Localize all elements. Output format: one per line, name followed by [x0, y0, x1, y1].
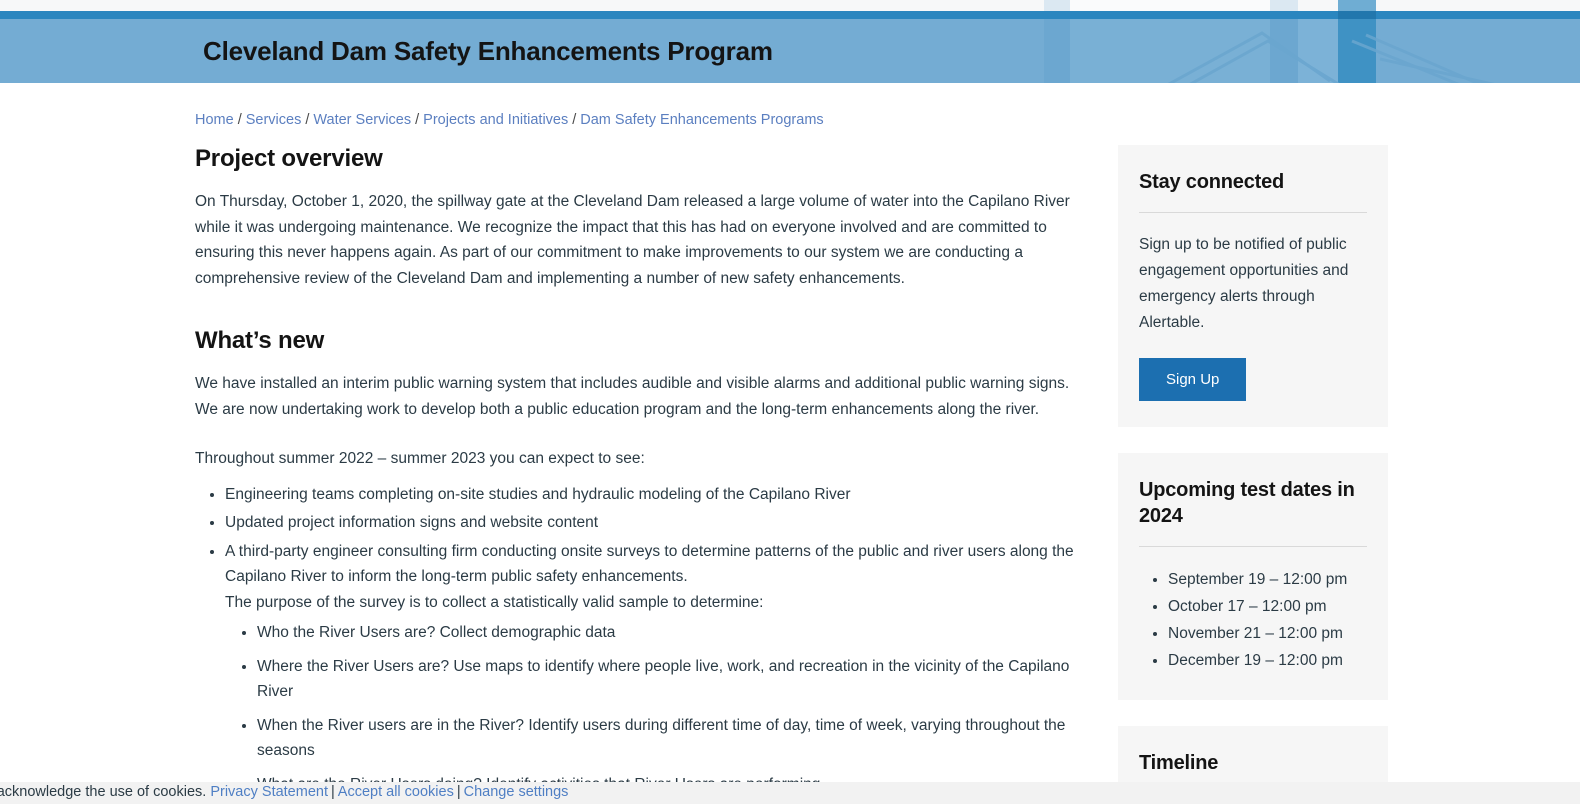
top-strip [0, 0, 1580, 11]
timeline-heading: Timeline [1139, 750, 1367, 776]
top-strip-shape [1044, 0, 1070, 11]
list-item-text: When the River users are in the River? I… [257, 717, 1065, 760]
expect-intro-paragraph: Throughout summer 2022 – summer 2023 you… [195, 446, 1075, 472]
list-item-text: Updated project information signs and we… [225, 514, 598, 531]
list-item: Where the River Users are? Use maps to i… [257, 654, 1075, 705]
breadcrumb-item-home[interactable]: Home [195, 112, 234, 128]
breadcrumb-separator: / [572, 112, 576, 128]
sidebar: Stay connected Sign up to be notified of… [1118, 145, 1388, 804]
breadcrumb-separator: / [305, 112, 309, 128]
accept-all-cookies-link[interactable]: Accept all cookies [338, 784, 454, 800]
test-dates-list: September 19 – 12:00 pm October 17 – 12:… [1139, 566, 1367, 674]
cookie-message: e our website, you acknowledge the use o… [0, 784, 206, 800]
list-item-text: Where the River Users are? Use maps to i… [257, 658, 1069, 701]
list-item: September 19 – 12:00 pm [1168, 566, 1367, 593]
list-item-text: A third-party engineer consulting firm c… [225, 543, 1074, 586]
breadcrumb: Home/Services/Water Services/Projects an… [195, 112, 824, 128]
privacy-statement-link[interactable]: Privacy Statement [210, 784, 328, 800]
change-settings-link[interactable]: Change settings [464, 784, 569, 800]
list-item: October 17 – 12:00 pm [1168, 593, 1367, 620]
breadcrumb-separator: / [238, 112, 242, 128]
test-dates-heading: Upcoming test dates in 2024 [1139, 477, 1367, 529]
top-strip-shape [1270, 0, 1298, 11]
project-overview-paragraph: On Thursday, October 1, 2020, the spillw… [195, 189, 1075, 291]
list-item: Who the River Users are? Collect demogra… [257, 620, 1075, 646]
breadcrumb-separator: / [415, 112, 419, 128]
breadcrumb-item-dam-safety-enhancements-programs[interactable]: Dam Safety Enhancements Programs [580, 112, 823, 128]
top-strip-shape [1070, 0, 1270, 11]
list-item: When the River users are in the River? I… [257, 713, 1075, 764]
project-overview-heading: Project overview [195, 145, 1075, 173]
list-item: December 19 – 12:00 pm [1168, 647, 1367, 674]
breadcrumb-item-services[interactable]: Services [246, 112, 302, 128]
breadcrumb-item-projects-and-initiatives[interactable]: Projects and Initiatives [423, 112, 568, 128]
card-divider [1139, 546, 1367, 547]
card-stay-connected: Stay connected Sign up to be notified of… [1118, 145, 1388, 427]
breadcrumb-item-water-services[interactable]: Water Services [313, 112, 411, 128]
card-upcoming-test-dates: Upcoming test dates in 2024 September 19… [1118, 453, 1388, 700]
top-strip-shape [1338, 0, 1376, 11]
test-date-label: November 21 – 12:00 pm [1168, 625, 1343, 642]
stay-connected-heading: Stay connected [1139, 169, 1367, 195]
survey-purpose-list: Who the River Users are? Collect demogra… [225, 620, 1075, 797]
stay-connected-body: Sign up to be notified of public engagem… [1139, 232, 1367, 336]
page-title: Cleveland Dam Safety Enhancements Progra… [203, 19, 773, 83]
list-item-text: Engineering teams completing on-site stu… [225, 486, 851, 503]
header-accent-rule [0, 11, 1580, 19]
card-divider [1139, 212, 1367, 213]
whats-new-paragraph: We have installed an interim public warn… [195, 371, 1075, 422]
cookie-separator: | [457, 784, 461, 800]
content-area: Home/Services/Water Services/Projects an… [0, 83, 1580, 804]
page-root: Cleveland Dam Safety Enhancements Progra… [0, 0, 1580, 804]
list-item: Engineering teams completing on-site stu… [225, 482, 1075, 508]
list-item-text: Who the River Users are? Collect demogra… [257, 624, 615, 641]
cookie-separator: | [331, 784, 335, 800]
test-date-label: December 19 – 12:00 pm [1168, 652, 1343, 669]
main-content-column: Project overview On Thursday, October 1,… [195, 145, 1075, 804]
expectations-list: Engineering teams completing on-site stu… [195, 482, 1075, 798]
list-item: Updated project information signs and we… [225, 510, 1075, 536]
test-date-label: September 19 – 12:00 pm [1168, 571, 1347, 588]
hero-banner: Cleveland Dam Safety Enhancements Progra… [0, 19, 1580, 83]
list-item-note: The purpose of the survey is to collect … [225, 590, 1075, 616]
sign-up-button[interactable]: Sign Up [1139, 358, 1246, 401]
list-item: November 21 – 12:00 pm [1168, 620, 1367, 647]
test-date-label: October 17 – 12:00 pm [1168, 598, 1327, 615]
list-item: A third-party engineer consulting firm c… [225, 539, 1075, 798]
cookie-consent-text: e our website, you acknowledge the use o… [0, 784, 568, 800]
cookie-consent-bar: e our website, you acknowledge the use o… [0, 782, 1580, 804]
whats-new-heading: What’s new [195, 327, 1075, 355]
accent-rule-segment [1338, 11, 1376, 19]
